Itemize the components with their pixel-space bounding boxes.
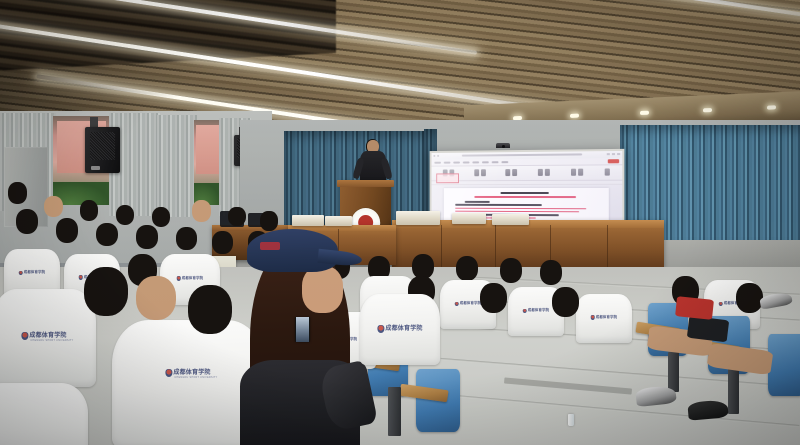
title-dot-icon — [433, 155, 435, 157]
seat-pedestal — [388, 387, 401, 436]
smartphone[interactable] — [295, 317, 309, 343]
shield-crest-icon — [177, 276, 181, 281]
seat-chair[interactable]: 成都体育学院 — [360, 294, 440, 365]
document-title-line — [500, 191, 548, 193]
chair-logo: 成都体育学院 — [523, 309, 550, 314]
seat-chair[interactable]: 成都体育学院 — [576, 294, 632, 343]
ribbon-tab-6[interactable] — [481, 161, 488, 163]
minimize-icon — [607, 153, 610, 155]
tool-group-4[interactable] — [538, 169, 550, 176]
chair-logo-cn: 成都体育学院 — [528, 309, 550, 312]
maximize-icon — [612, 153, 615, 155]
document-subtitle-line — [474, 196, 576, 198]
paper-stack-5 — [325, 216, 352, 226]
ribbon-tab-3[interactable] — [452, 161, 459, 163]
tool-group-3[interactable] — [505, 169, 517, 176]
document-body-line — [454, 204, 541, 206]
chair-logo-cn: 成都体育学院 — [460, 302, 482, 305]
downlight-5 — [767, 105, 776, 109]
face — [302, 266, 343, 313]
seat-pedestal — [668, 352, 679, 392]
tool-group-2[interactable] — [474, 169, 486, 176]
chair-logo: 成都体育学院 — [177, 276, 204, 281]
ribbon-tab-7[interactable] — [491, 161, 498, 163]
shield-crest-icon — [21, 332, 28, 340]
chair-logo-cn: 成都体育学院 — [596, 316, 618, 319]
chair-logo-cn: 成都体育学院 — [24, 271, 46, 274]
exterior-building-2 — [196, 125, 219, 174]
lectern-top — [337, 180, 394, 187]
downlight-3 — [640, 110, 649, 114]
paper-stack-1 — [396, 211, 440, 225]
tool-group-5[interactable] — [571, 169, 583, 176]
paper-stack-2 — [452, 213, 486, 225]
seat-chair[interactable]: 成都体育学院 CHENGDU SPORT UNIVERSITY — [0, 289, 96, 387]
camera-module-icon — [496, 143, 510, 148]
chair-logo-en: CHENGDU SPORT UNIVERSITY — [174, 377, 217, 379]
downlight-4 — [703, 108, 712, 112]
document-filename — [462, 153, 582, 156]
window-left-2 — [194, 120, 221, 205]
close-icon — [617, 153, 620, 155]
phone-screen — [296, 317, 309, 341]
shield-crest-icon — [377, 325, 384, 333]
shield-crest-icon — [523, 309, 527, 314]
shield-crest-icon — [591, 315, 595, 320]
tool-group-6[interactable] — [604, 168, 609, 175]
document-body-line — [454, 210, 578, 212]
woman-with-cap — [240, 231, 360, 445]
shield-crest-icon — [19, 271, 23, 276]
ribbon-tab-4[interactable] — [462, 161, 469, 163]
paper-stack-4 — [292, 215, 324, 226]
shield-crest-icon — [719, 302, 723, 307]
shield-crest-icon — [165, 369, 172, 377]
seat-pedestal — [728, 369, 739, 414]
shield-crest-icon — [79, 275, 83, 280]
document-ruler — [431, 180, 623, 184]
chair-logo: 成都体育学院 CHENGDU SPORT UNIVERSITY — [21, 332, 66, 340]
seat-chair[interactable] — [0, 383, 88, 445]
ribbon-tab-8[interactable] — [501, 161, 508, 163]
chair-logo: 成都体育学院 — [455, 302, 482, 307]
chair-logo: 成都体育学院 CHENGDU SPORT UNIVERSITY — [165, 369, 210, 377]
baseball-cap — [247, 229, 338, 272]
chair-logo: 成都体育学院 — [377, 325, 422, 333]
chair-logo-cn: 成都体育学院 — [182, 277, 204, 280]
shield-crest-icon — [455, 302, 459, 307]
downlight-2 — [570, 113, 579, 117]
grey-curtain-3 — [157, 115, 197, 217]
document-body-line — [464, 201, 489, 203]
document-body-line — [454, 207, 585, 209]
chair-logo: 成都体育学院 — [591, 315, 618, 320]
speaker-badge-left — [91, 166, 100, 170]
paper-stack-3 — [492, 214, 529, 225]
ribbon-toolbar[interactable] — [431, 165, 623, 181]
chair-logo-cn: 成都体育学院 — [385, 326, 422, 332]
seat-shell[interactable] — [768, 334, 800, 396]
ribbon-tab-1[interactable] — [433, 161, 440, 163]
ribbon-tab-5[interactable] — [471, 161, 478, 163]
share-button[interactable] — [608, 159, 619, 163]
red-seal-box — [436, 173, 458, 182]
lecture-hall-photo: 成都体育学院 成都体育学院 成都体育学院 成都体育学院 成都体育学院 成都体育学… — [0, 0, 800, 445]
chair-logo-en: CHENGDU SPORT UNIVERSITY — [30, 340, 73, 342]
chair-logo: 成都体育学院 — [19, 271, 46, 276]
water-bottle — [568, 414, 574, 426]
cap-logo — [260, 242, 280, 250]
wall-speaker-left — [85, 127, 120, 172]
ribbon-tab-2[interactable] — [443, 161, 450, 163]
title-dot-icon-2 — [436, 155, 438, 157]
